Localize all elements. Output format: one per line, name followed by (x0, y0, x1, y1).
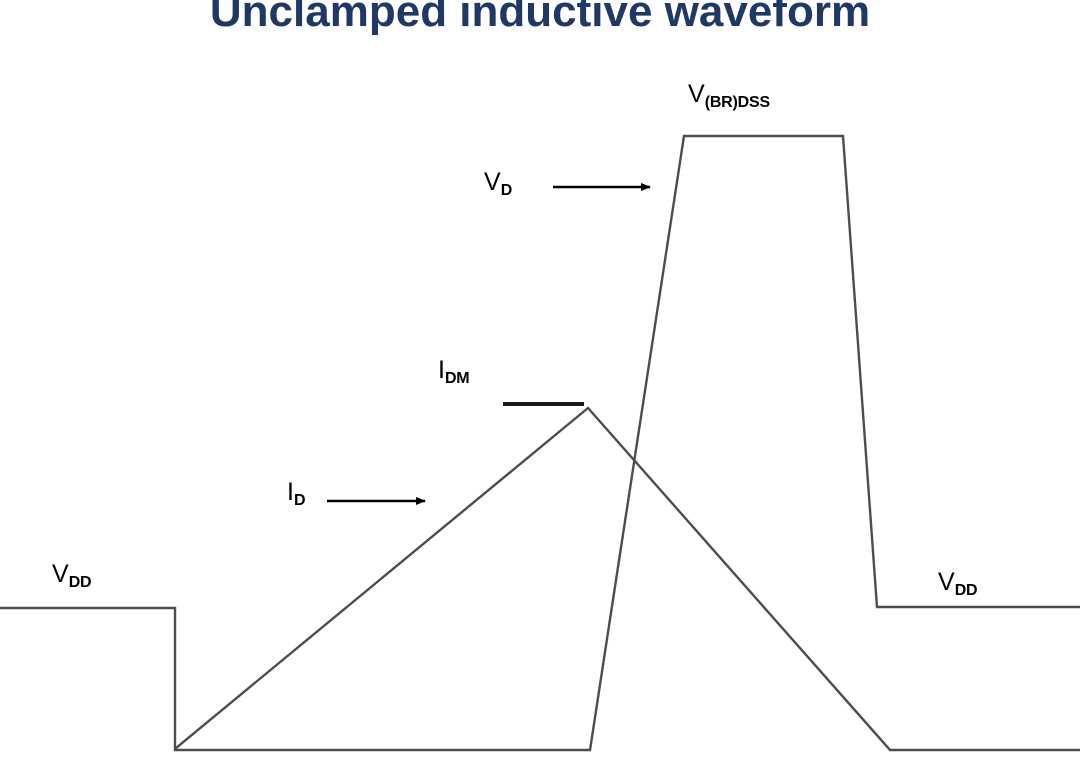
label-id-base: I (287, 478, 294, 506)
label-vdd-left: VDD (52, 562, 91, 587)
label-id: ID (287, 480, 305, 505)
label-vdd-right-sub: DD (955, 582, 978, 599)
label-vd-sub: D (501, 182, 512, 199)
waveform-plot (0, 0, 1080, 758)
label-idm-sub: DM (445, 370, 469, 387)
waveform-diagram: Unclamped inductive waveform V(BR)DSS VD… (0, 0, 1080, 758)
label-vdd-left-base: V (52, 560, 69, 588)
label-vdd-left-sub: DD (69, 574, 92, 591)
label-vd: VD (484, 170, 512, 195)
label-vdd-right-base: V (938, 568, 955, 596)
label-vbrdss-base: V (688, 80, 705, 108)
voltage-trace-vd (0, 136, 1080, 750)
label-vbrdss: V(BR)DSS (688, 82, 770, 107)
label-vdd-right: VDD (938, 570, 977, 595)
label-idm: IDM (438, 358, 469, 383)
label-vd-base: V (484, 168, 501, 196)
label-vbrdss-sub: (BR)DSS (705, 94, 770, 111)
label-idm-base: I (438, 356, 445, 384)
label-id-sub: D (294, 492, 305, 509)
